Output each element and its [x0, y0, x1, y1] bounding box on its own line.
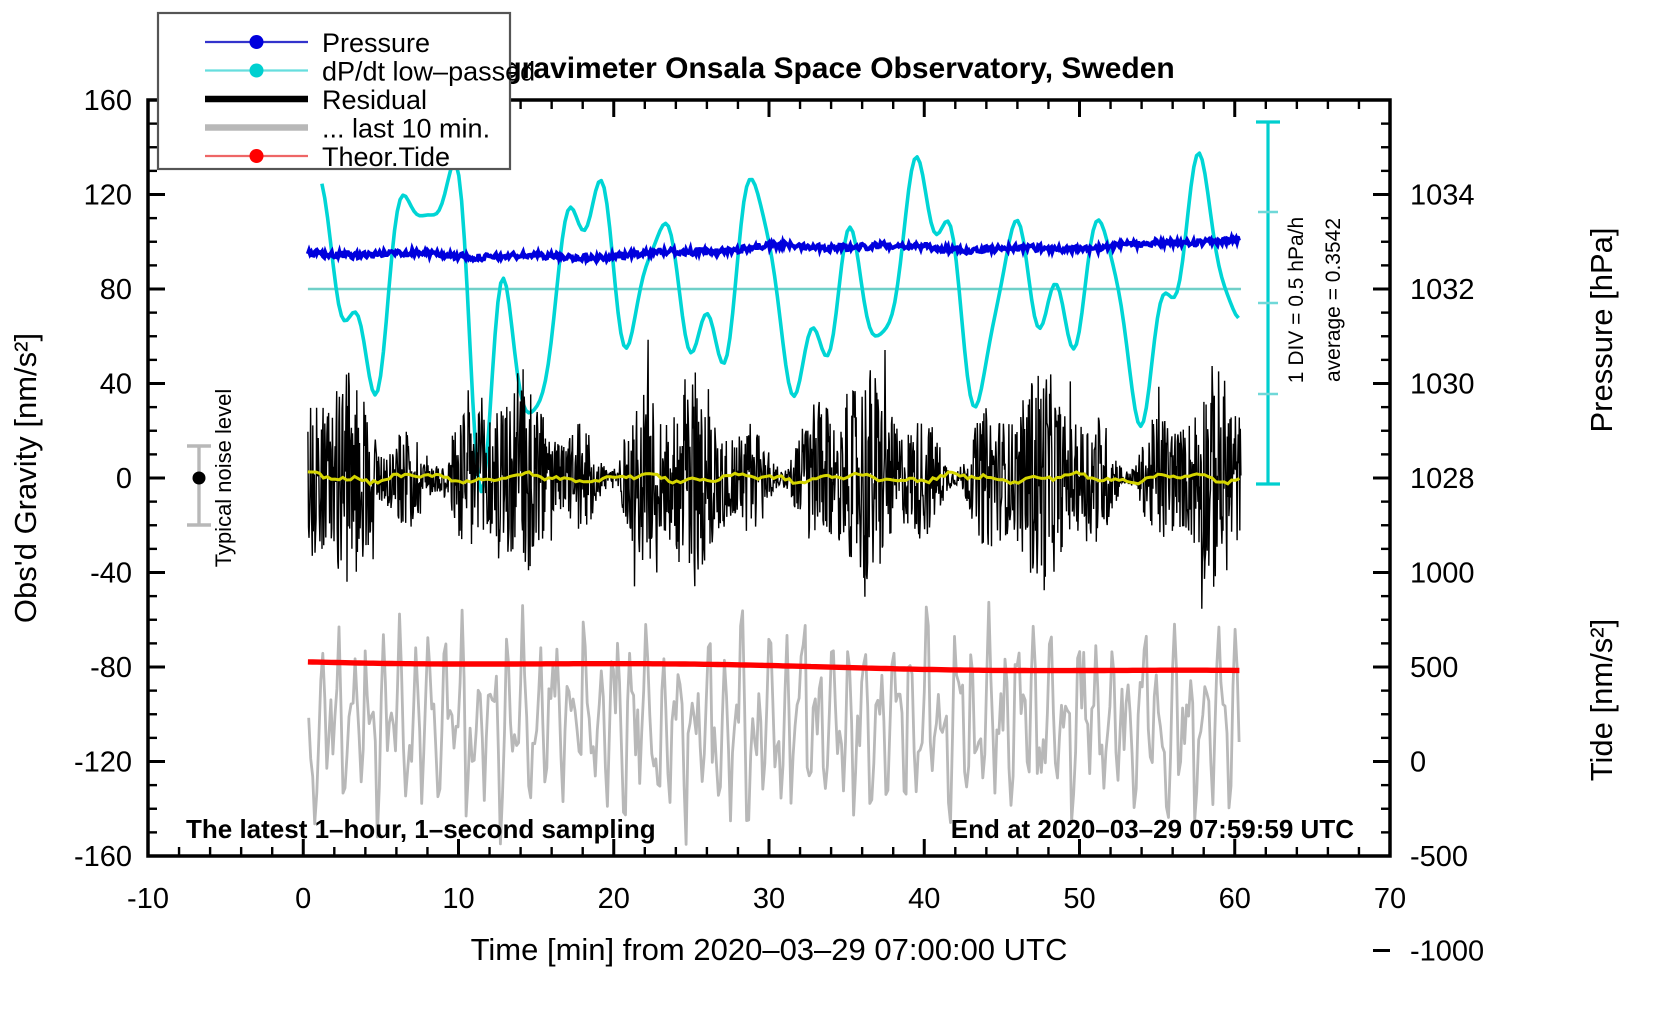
y-tick-label: -80 [90, 652, 132, 684]
legend-marker-dot [250, 149, 264, 163]
y-axis-right-tide-title: Tide [nm/s²] [1584, 619, 1619, 782]
legend-marker-dot [250, 35, 264, 49]
pressure-tick-label: 1028 [1410, 463, 1475, 495]
x-tick-label: 0 [295, 883, 311, 915]
noise-level-label: Typical noise level [211, 389, 236, 568]
x-axis-title: Time [min] from 2020–03–29 07:00:00 UTC [471, 932, 1068, 967]
x-tick-label: 50 [1063, 883, 1095, 915]
x-tick-label: 40 [908, 883, 940, 915]
tide-tick-label: -500 [1410, 841, 1468, 873]
x-tick-label: 20 [598, 883, 630, 915]
y-axis-left-title: Obs'd Gravity [nm/s²] [8, 333, 43, 623]
legend-item-label: dP/dt low–passed [322, 57, 535, 87]
tide-tick-label: 1000 [1410, 558, 1475, 590]
y-tick-label: 160 [84, 85, 132, 117]
y-tick-label: 120 [84, 180, 132, 212]
chart-page: SCG_054 gravimeter Onsala Space Observat… [0, 0, 1660, 1020]
pressure-tick-label: 1032 [1410, 274, 1475, 306]
legend-item-label: Theor.Tide [322, 142, 450, 172]
noise-level-dot [193, 472, 206, 485]
div-scale-label: 1 DIV = 0.5 hPa/h [1285, 217, 1308, 383]
bottom-left-note: The latest 1–hour, 1–second sampling [186, 814, 656, 844]
y-tick-label: -120 [74, 747, 132, 779]
legend[interactable]: PressuredP/dt low–passedResidual... last… [158, 13, 535, 172]
legend-item-label: ... last 10 min. [322, 114, 490, 144]
y-tick-label: 80 [100, 274, 132, 306]
tide-tick-label: 0 [1410, 747, 1426, 779]
gravimeter-chart: SCG_054 gravimeter Onsala Space Observat… [0, 0, 1660, 1020]
y-tick-label: 0 [116, 463, 132, 495]
y-axis-right-pressure-title: Pressure [hPa] [1584, 227, 1619, 432]
x-tick-label: 10 [442, 883, 474, 915]
x-tick-label: 60 [1219, 883, 1251, 915]
y-tick-label: 40 [100, 369, 132, 401]
bottom-right-note: End at 2020–03–29 07:59:59 UTC [951, 814, 1354, 844]
average-label: average = 0.3542 [1322, 218, 1345, 382]
legend-item-label: Residual [322, 85, 427, 115]
y-tick-label: -40 [90, 558, 132, 590]
pressure-tick-label: 1030 [1410, 369, 1475, 401]
tide-tick-label: -1000 [1410, 936, 1484, 968]
tide-tick-label: 500 [1410, 652, 1458, 684]
x-tick-label: -10 [127, 883, 169, 915]
legend-item-label: Pressure [322, 28, 430, 58]
x-tick-label: 30 [753, 883, 785, 915]
legend-marker-dot [250, 64, 264, 78]
pressure-tick-label: 1034 [1410, 180, 1475, 212]
y-tick-label: -160 [74, 841, 132, 873]
x-tick-label: 70 [1374, 883, 1406, 915]
